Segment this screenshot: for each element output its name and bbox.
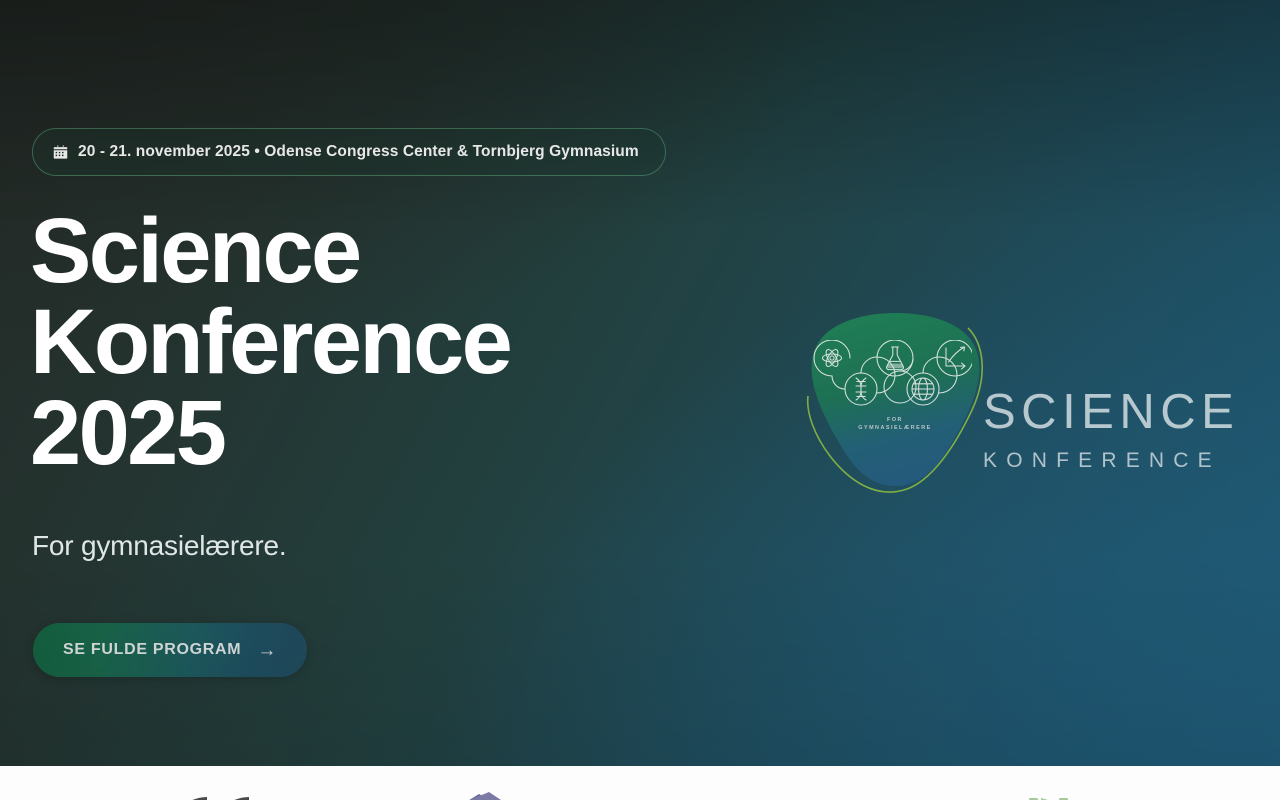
cta-label: SE FULDE PROGRAM — [63, 641, 241, 659]
date-venue-badge: 20 - 21. november 2025 • Odense Congress… — [32, 128, 666, 176]
page-title: Science Konference 2025 — [30, 206, 650, 479]
logo-caption-line-1: FOR — [800, 416, 990, 424]
page-subtitle: For gymnasielærere. — [32, 530, 287, 562]
calendar-icon — [53, 145, 68, 160]
globe-icon — [912, 378, 934, 400]
partner-logo-fysik[interactable]: FYSIK — [449, 783, 568, 800]
partner-logo-3[interactable] — [759, 783, 836, 800]
arrow-right-icon: → — [257, 641, 277, 660]
logo-caption: FOR GYMNASIELÆRERE — [800, 416, 990, 433]
wordmark-science: SCIENCE — [983, 388, 1251, 437]
logo-caption-line-2: GYMNASIELÆRERE — [800, 424, 990, 432]
flask-icon — [887, 347, 904, 370]
science-konference-logo: FOR GYMNASIELÆRERE SCIENCE KONFERENCE — [800, 300, 1250, 495]
logo-wordmark: SCIENCE KONFERENCE — [983, 388, 1251, 471]
headline-line-2: Konference — [30, 297, 650, 388]
headline-line-3: 2025 — [30, 388, 650, 479]
wordmark-konference: KONFERENCE — [983, 450, 1251, 471]
partner-logos-strip: FYSIK FaDB — [0, 766, 1280, 800]
date-venue-text: 20 - 21. november 2025 • Odense Congress… — [78, 143, 639, 161]
hero-section: 20 - 21. november 2025 • Odense Congress… — [0, 0, 1280, 766]
partner-logo-1[interactable] — [155, 783, 258, 800]
partner-logo-fadb[interactable]: FaDB — [1027, 783, 1124, 800]
atom-icon — [823, 348, 842, 368]
dna-icon — [856, 378, 866, 400]
logo-science-icons — [812, 340, 972, 410]
see-full-program-button[interactable]: SE FULDE PROGRAM → — [33, 623, 307, 677]
headline-line-1: Science — [30, 206, 650, 297]
